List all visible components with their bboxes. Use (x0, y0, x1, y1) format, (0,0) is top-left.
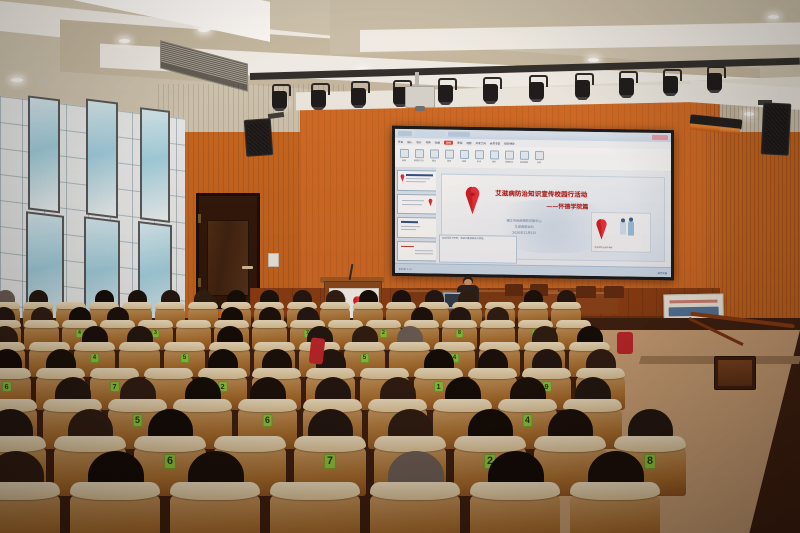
seat-headrest (54, 436, 126, 452)
seat-headrest (170, 482, 260, 500)
ribbon-button-label: 形状 (477, 160, 481, 163)
ribbon-button-label: 快速样式 (505, 161, 513, 164)
seat-headrest (370, 482, 460, 500)
ceiling-downlight (11, 78, 23, 82)
seat-headrest (374, 436, 446, 452)
ceiling-downlight (198, 28, 210, 32)
seat-headrest (176, 320, 211, 328)
seat-number-tag: 4 (90, 353, 99, 363)
seat-headrest (480, 320, 515, 328)
seat-headrest (320, 302, 350, 309)
ceiling-smoke-detector-icon (38, 77, 48, 84)
window-pane (86, 99, 118, 219)
ribbon-button-label: 查找替换 (520, 161, 528, 164)
seat-headrest (238, 399, 297, 412)
ppt-slide-thumbnail[interactable] (397, 217, 437, 238)
stage-light[interactable] (574, 73, 591, 99)
projection-screen: 开始 插入 设计 切换 动画 放映 审阅 视图 开发工具 会员专享 稻壳特效 粘… (392, 126, 674, 280)
auditorium-seat[interactable] (70, 482, 160, 533)
red-ribbon-icon (428, 198, 433, 206)
seat-headrest (252, 368, 301, 379)
seat-headrest (252, 320, 287, 328)
auditorium-photo: 开始 插入 设计 切换 动画 放映 审阅 视图 开发工具 会员专享 稻壳特效 粘… (0, 0, 800, 533)
red-ribbon-icon (464, 185, 481, 215)
auditorium-seat[interactable] (270, 482, 360, 533)
auditorium-seat[interactable] (470, 482, 560, 533)
seat-headrest (173, 399, 232, 412)
seat-number-tag: 5 (132, 414, 143, 427)
red-ribbon-icon (595, 218, 608, 240)
ppt-menu-item[interactable]: 设计 (416, 140, 421, 144)
seat-headrest (468, 368, 517, 379)
stage-light[interactable] (482, 77, 499, 103)
ppt-slide-thumbnail-panel[interactable] (395, 167, 440, 265)
ppt-menu-item[interactable]: 动画 (435, 140, 440, 144)
auditorium-seat[interactable] (570, 482, 660, 533)
seat-headrest (344, 342, 385, 351)
seat-headrest (0, 368, 31, 379)
seat-number-tag: 7 (109, 381, 119, 392)
doctor-figure-icon (628, 220, 634, 235)
wall-speaker-left (244, 118, 274, 157)
seat-headrest (576, 368, 625, 379)
seat-headrest (353, 302, 383, 309)
seat-headrest (534, 436, 606, 452)
ribbon-button[interactable]: 快速样式 (505, 151, 513, 165)
seat-headrest (188, 302, 218, 309)
window-pane (140, 107, 170, 223)
ribbon-button[interactable]: 形状 (475, 150, 483, 164)
stage-light[interactable] (618, 71, 635, 97)
red-scarf (617, 332, 633, 354)
seat-headrest (0, 482, 60, 500)
seat-headrest (122, 302, 152, 309)
seat-headrest (144, 368, 193, 379)
ribbon-button-label: 新建幻灯片 (414, 159, 424, 162)
ribbon-button-label: 粘贴 (402, 159, 406, 162)
seat-headrest (214, 436, 286, 452)
ceiling-downlight (588, 58, 599, 62)
seat-headrest (70, 482, 160, 500)
ppt-slide-thumbnail[interactable] (397, 193, 437, 214)
stage-chair (505, 284, 523, 296)
stage-light[interactable] (706, 66, 723, 92)
wall-light-switch[interactable] (268, 253, 279, 267)
seat-headrest (100, 320, 135, 328)
seat-headrest (294, 436, 366, 452)
seat-number-tag: 4 (522, 414, 533, 427)
seat-headrest (518, 302, 548, 309)
seat-back (370, 495, 460, 533)
slide-poster-image: 艾滋病防治宣传海报 (591, 212, 651, 253)
seat-headrest (498, 399, 557, 412)
seat-number-tag: 6 (1, 381, 11, 392)
ribbon-button-label: 段落 (462, 160, 466, 163)
door-hinge (198, 278, 201, 287)
ppt-slide-thumbnail[interactable] (397, 240, 437, 261)
ribbon-button-label: 选择 (537, 161, 541, 164)
slide-organization-block: 镇江市疾病预防控制中心 艾滋病防治科 2020年12月1日 (491, 217, 558, 236)
seat-headrest (551, 302, 581, 309)
stage-light[interactable] (350, 81, 367, 107)
stage-light[interactable] (310, 83, 327, 109)
ppt-menu-item[interactable]: 开始 (398, 139, 403, 143)
door-panel (207, 220, 249, 296)
ppt-status-left: 幻灯片 1 / 4 (399, 266, 412, 270)
seat-headrest (74, 342, 115, 351)
stage-chair (604, 286, 624, 298)
doctor-figure-icon (620, 221, 626, 235)
seat-number-tag: 5 (360, 353, 369, 363)
seat-headrest (470, 482, 560, 500)
ppt-menu-item[interactable]: 审阅 (457, 140, 462, 144)
seat-number-tag: 6 (164, 454, 176, 469)
ppt-menu-item[interactable]: 切换 (426, 140, 431, 144)
auditorium-seat[interactable] (370, 482, 460, 533)
ppt-status-right: 演示文稿 (657, 270, 667, 274)
ppt-window-controls[interactable] (652, 135, 668, 140)
ribbon-button[interactable]: 查找替换 (520, 151, 528, 165)
ribbon-button[interactable]: 新建幻灯片 (415, 149, 423, 163)
seat-back (70, 495, 160, 533)
ppt-menu-item[interactable]: 会员专享 (490, 141, 500, 145)
ribbon-button[interactable]: 版式 (430, 149, 438, 163)
ceiling-downlight (768, 15, 779, 19)
stage-light[interactable] (271, 84, 288, 110)
stage-light[interactable] (437, 78, 454, 104)
door-hinge (198, 214, 201, 223)
seat-number-tag: 6 (262, 414, 273, 427)
stage-chair (576, 286, 596, 298)
ribbon-button[interactable]: 段落 (460, 150, 468, 164)
seat-number-tag: 5 (180, 353, 189, 363)
seat-number-tag: 8 (455, 329, 464, 338)
seat-headrest (389, 342, 430, 351)
seat-number-tag: 1 (433, 381, 443, 392)
seat-back (270, 495, 360, 533)
stage-light[interactable] (662, 69, 679, 95)
slide-subtitle: ——怀德学院篇 (546, 201, 588, 211)
ribbon-button[interactable]: 选择 (535, 151, 543, 165)
stage-light[interactable] (528, 75, 545, 101)
seat-back (170, 495, 260, 533)
auditorium-seating: 5436728194565436728194565436728 (0, 300, 800, 533)
seat-headrest (386, 302, 416, 309)
ppt-menu-item[interactable]: 稻壳特效 (504, 141, 514, 145)
seat-headrest (570, 482, 660, 500)
seat-headrest (119, 342, 160, 351)
ppt-slide-thumbnail[interactable] (397, 170, 437, 191)
seat-number-tag: 7 (324, 454, 336, 469)
red-ribbon-icon (400, 174, 405, 182)
door-handle[interactable] (242, 266, 253, 269)
ppt-menu-item-active[interactable]: 放映 (444, 140, 453, 144)
ribbon-button[interactable]: 字体 (445, 150, 453, 164)
seat-back (0, 495, 60, 533)
ppt-notes-pane[interactable]: 各位同学下午好，欢迎大家参加本次讲座。 (439, 235, 517, 264)
seat-back (470, 495, 560, 533)
projector-lens-icon (415, 106, 425, 111)
seat-number-tag: 8 (644, 454, 656, 469)
auditorium-seat[interactable] (0, 482, 60, 533)
seat-headrest (134, 436, 206, 452)
ceiling-projector[interactable] (405, 86, 435, 108)
slide-title: 艾滋病防治知识宣传校园行活动 (495, 189, 587, 199)
red-scarf (309, 337, 326, 364)
seat-headrest (164, 342, 205, 351)
seat-number-tag: 2 (379, 329, 388, 338)
ribbon-button[interactable]: 排列 (490, 150, 498, 164)
ppt-menu-item[interactable]: 视图 (466, 140, 471, 144)
seat-headrest (454, 436, 526, 452)
powerpoint-window: 开始 插入 设计 切换 动画 放映 审阅 视图 开发工具 会员专享 稻壳特效 粘… (395, 129, 671, 277)
ribbon-button-label: 排列 (492, 160, 496, 163)
doctor-head-icon (621, 219, 625, 223)
ribbon-button-label: 版式 (432, 159, 436, 162)
seat-headrest (0, 436, 46, 452)
slide-card-caption: 艾滋病防治宣传海报 (594, 246, 612, 249)
seat-headrest (442, 320, 477, 328)
ribbon-button-label: 字体 (447, 160, 451, 163)
seat-back (570, 495, 660, 533)
seat-headrest (155, 302, 185, 309)
ribbon-button[interactable]: 粘贴 (400, 149, 408, 163)
ppt-menu-item[interactable]: 插入 (407, 140, 412, 144)
seat-headrest (614, 436, 686, 452)
window-pane (28, 95, 60, 213)
seat-headrest (24, 320, 59, 328)
ppt-menu-item[interactable]: 开发工具 (476, 141, 486, 145)
seat-headrest (108, 399, 167, 412)
auditorium-seat[interactable] (170, 482, 260, 533)
ceiling-downlight (119, 39, 130, 43)
seat-headrest (270, 482, 360, 500)
wall-speaker-right (761, 102, 792, 155)
